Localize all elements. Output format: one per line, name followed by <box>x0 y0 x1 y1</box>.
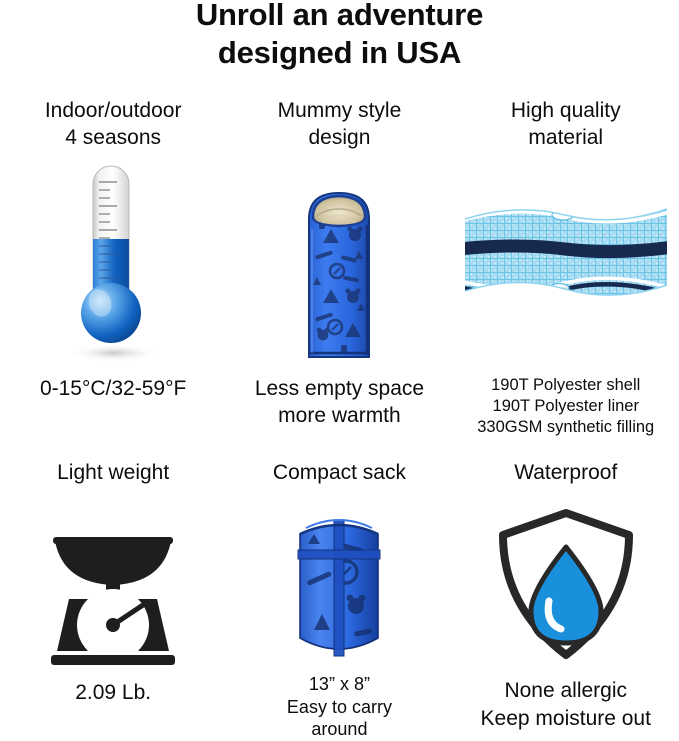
feature-heading: High quality material <box>511 98 621 160</box>
feature-heading-line-2: 4 seasons <box>45 125 182 152</box>
feature-cell-mummy-style: Mummy style design <box>226 98 452 438</box>
title-line-1: Unroll an adventure <box>196 0 483 32</box>
feature-art <box>33 500 193 665</box>
feature-caption: 0-15°C/32-59°F <box>40 375 186 402</box>
feature-caption-line-1: 190T Polyester shell <box>491 376 640 394</box>
feature-heading-line-2: design <box>278 125 402 152</box>
feature-heading-line-1: Mummy style <box>278 99 402 122</box>
feature-heading-line-1: High quality <box>511 99 621 122</box>
feature-caption-line-2: Easy to carry <box>287 696 392 719</box>
thermometer-bulb <box>81 283 141 343</box>
feature-heading-line-1: Waterproof <box>514 461 617 484</box>
feature-heading: Light weight <box>57 460 169 500</box>
feature-cell-light-weight: Light weight <box>0 460 226 741</box>
feature-caption-line-3: around <box>287 718 392 741</box>
feature-caption-line-1: None allergic <box>504 679 627 702</box>
feature-cell-waterproof: Waterproof None allergic Keep moisture o… <box>453 460 679 741</box>
feature-cell-compact-sack: Compact sack <box>226 460 452 741</box>
feature-art <box>38 160 188 365</box>
feature-heading-line-1: Light weight <box>57 461 169 484</box>
title-line-2: designed in USA <box>0 34 679 72</box>
feature-row-top: Indoor/outdoor 4 seasons <box>0 98 679 438</box>
feature-caption: 13” x 8” Easy to carry around <box>287 673 392 741</box>
feature-heading-line-1: Compact sack <box>273 461 406 484</box>
feature-cell-indoor-outdoor: Indoor/outdoor 4 seasons <box>0 98 226 438</box>
feature-heading-line-2: material <box>511 125 621 152</box>
feature-caption: 190T Polyester shell 190T Polyester line… <box>477 375 654 438</box>
feature-caption: Less empty space more warmth <box>255 375 424 430</box>
product-feature-infographic: Unroll an adventure designed in USA Indo… <box>0 0 679 738</box>
feature-art <box>284 500 394 665</box>
feature-heading-line-1: Indoor/outdoor <box>45 99 182 122</box>
feature-row-bottom: Light weight <box>0 460 679 741</box>
feature-caption-line-1: 2.09 Lb. <box>75 681 151 704</box>
bag-hood-liner <box>313 196 365 226</box>
feature-caption-line-2: 190T Polyester liner <box>477 396 654 417</box>
feature-heading: Mummy style design <box>278 98 402 160</box>
feature-art <box>459 160 673 365</box>
feature-caption-line-2: more warmth <box>255 402 424 429</box>
feature-cell-high-quality-material: High quality material <box>453 98 679 438</box>
feature-art <box>279 160 399 365</box>
feature-art <box>491 500 641 665</box>
page-title: Unroll an adventure designed in USA <box>0 0 679 72</box>
feature-caption-line-2: Keep moisture out <box>481 705 651 732</box>
feature-caption-line-1: 13” x 8” <box>309 674 370 694</box>
thermometer-shadow <box>68 344 160 362</box>
row-spacer <box>0 438 679 460</box>
feature-heading: Waterproof <box>514 460 617 500</box>
thermometer-icon <box>38 160 188 365</box>
feature-grid: Indoor/outdoor 4 seasons <box>0 98 679 741</box>
feature-caption: None allergic Keep moisture out <box>481 677 651 732</box>
feature-caption: 2.09 Lb. <box>75 679 151 706</box>
kitchen-scale-icon <box>33 505 193 665</box>
feature-caption-line-1: Less empty space <box>255 377 424 400</box>
feature-heading: Indoor/outdoor 4 seasons <box>45 98 182 160</box>
fabric-swatch-icon <box>459 185 673 315</box>
feature-caption-line-1: 0-15°C/32-59°F <box>40 377 186 400</box>
feature-caption-line-3: 330GSM synthetic filling <box>477 417 654 438</box>
mummy-sleeping-bag-icon <box>279 185 399 365</box>
shield-droplet-icon <box>491 505 641 665</box>
compression-sack-icon <box>284 510 394 665</box>
feature-heading: Compact sack <box>273 460 406 500</box>
